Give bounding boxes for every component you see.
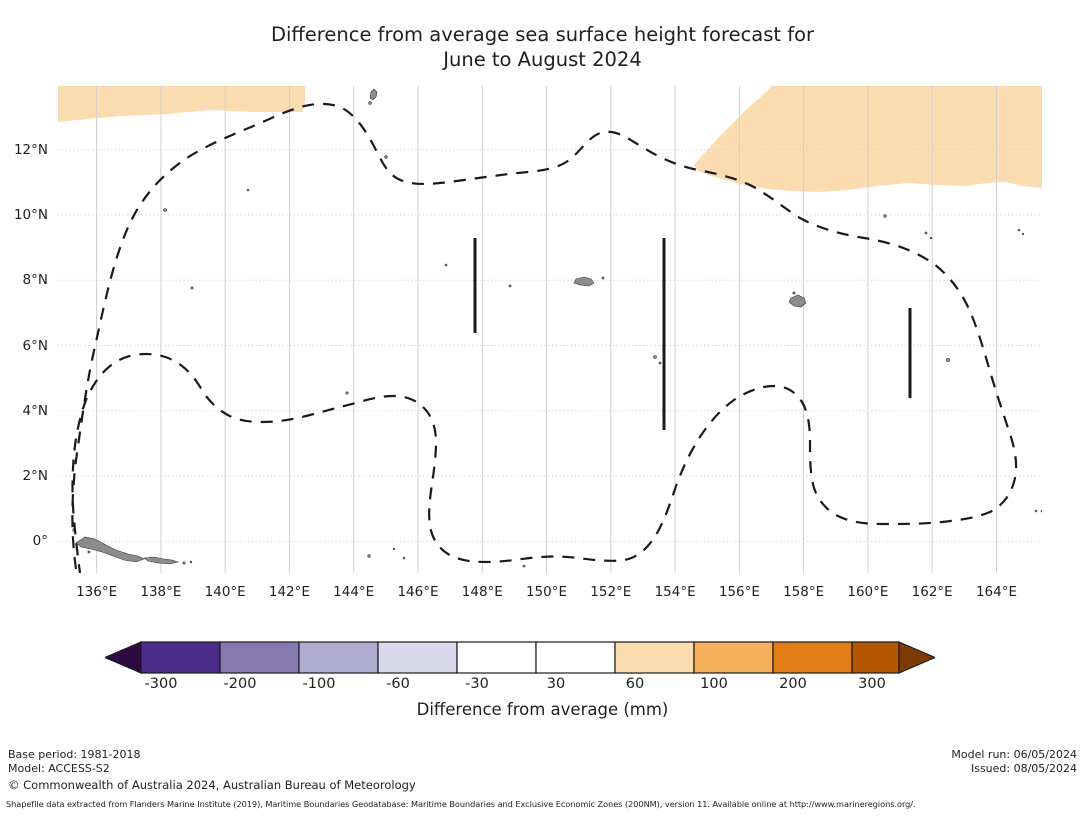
colorbar-bin-200-100	[299, 642, 378, 673]
lon-tick-152E: 152°E	[576, 584, 646, 600]
colorbar-bin-lt-300	[141, 642, 220, 673]
lat-tick-12N: 12°N	[0, 142, 48, 158]
lat-tick-10N: 10°N	[0, 207, 48, 223]
attribution-text: Shapefile data extracted from Flanders M…	[6, 799, 916, 809]
lon-tick-150E: 150°E	[512, 584, 582, 600]
colorbar-bin-60-30	[457, 642, 536, 673]
lon-tick-154E: 154°E	[640, 584, 710, 600]
lon-tick-140E: 140°E	[190, 584, 260, 600]
colorbar-extend-low	[105, 642, 141, 673]
issued-text: Issued: 08/05/2024	[951, 762, 1077, 776]
colorbar-bin-300-200	[220, 642, 299, 673]
map-plot[interactable]	[58, 86, 1042, 573]
colorbar[interactable]	[105, 641, 935, 674]
base-period-text: Base period: 1981-2018	[8, 748, 416, 762]
model-run-text: Model run: 06/05/2024	[951, 748, 1077, 762]
lon-tick-144E: 144°E	[319, 584, 389, 600]
colorbar-bin-200-300	[852, 642, 899, 673]
lon-tick-146E: 146°E	[383, 584, 453, 600]
page-title: Difference from average sea surface heig…	[0, 22, 1085, 72]
lat-tick-0: 0°	[0, 533, 48, 549]
colorbar-tick-200: 200	[758, 676, 828, 692]
copyright-text: © Commonwealth of Australia 2024, Austra…	[8, 779, 416, 793]
colorbar-svg	[105, 641, 935, 674]
lon-tick-138E: 138°E	[126, 584, 196, 600]
colorbar-tick--200: -200	[205, 676, 275, 692]
lon-tick-164E: 164°E	[962, 584, 1032, 600]
colorbar-tick--300: -300	[126, 676, 196, 692]
lon-tick-156E: 156°E	[704, 584, 774, 600]
lon-tick-148E: 148°E	[447, 584, 517, 600]
lon-tick-158E: 158°E	[769, 584, 839, 600]
model-text: Model: ACCESS-S2	[8, 762, 416, 776]
colorbar-tick-60: 60	[600, 676, 670, 692]
map-svg	[58, 86, 1042, 573]
colorbar-tick--30: -30	[442, 676, 512, 692]
footer-right: Model run: 06/05/2024 Issued: 08/05/2024	[951, 748, 1077, 775]
lon-tick-160E: 160°E	[833, 584, 903, 600]
colorbar-tick-30: 30	[521, 676, 591, 692]
lat-tick-8N: 8°N	[0, 272, 48, 288]
colorbar-bin-60-100	[694, 642, 773, 673]
colorbar-title: Difference from average (mm)	[0, 700, 1085, 719]
lon-tick-142E: 142°E	[254, 584, 324, 600]
colorbar-bin-30-60	[615, 642, 694, 673]
colorbar-extend-high	[899, 642, 935, 673]
lon-tick-162E: 162°E	[897, 584, 967, 600]
lon-tick-136E: 136°E	[62, 584, 132, 600]
colorbar-tick-labels: -300 -200 -100 -60 -30 30 60 100 200 300	[105, 676, 935, 696]
colorbar-bin-100-200	[773, 642, 852, 673]
lat-tick-4N: 4°N	[0, 403, 48, 419]
lat-tick-2N: 2°N	[0, 468, 48, 484]
colorbar-bin-neutral	[536, 642, 615, 673]
colorbar-tick-100: 100	[679, 676, 749, 692]
colorbar-tick--60: -60	[363, 676, 433, 692]
lat-tick-6N: 6°N	[0, 338, 48, 354]
colorbar-bin-100-60	[378, 642, 457, 673]
footer-left: Base period: 1981-2018 Model: ACCESS-S2 …	[8, 748, 416, 793]
colorbar-tick-300: 300	[837, 676, 907, 692]
colorbar-tick--100: -100	[284, 676, 354, 692]
